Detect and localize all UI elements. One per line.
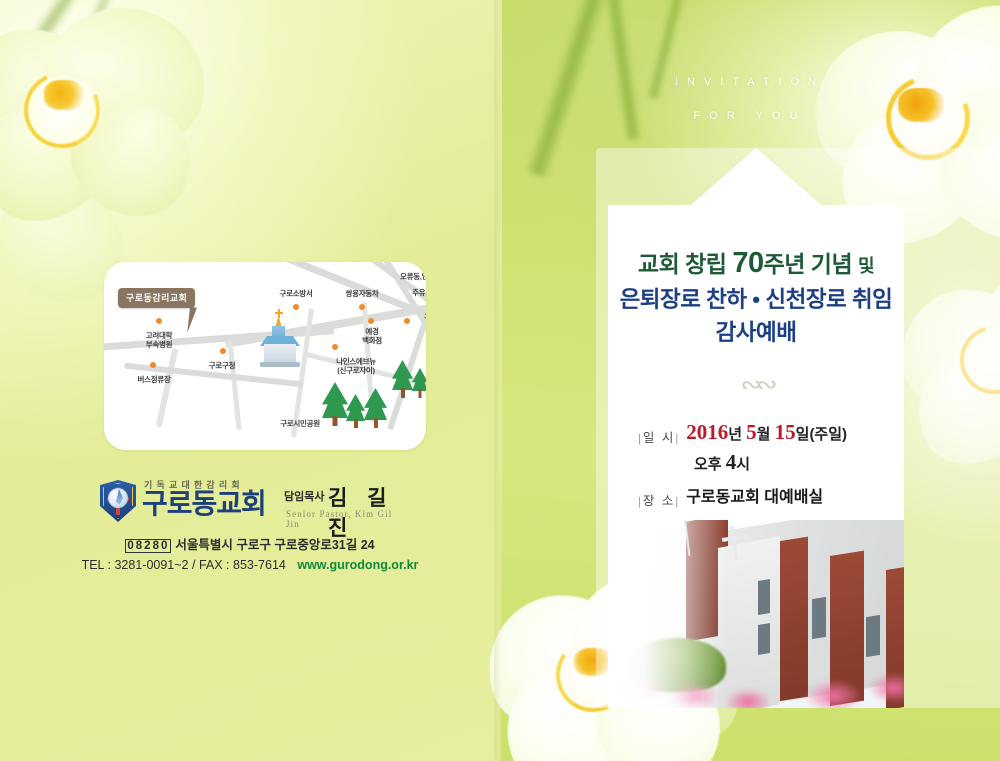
map-road (227, 340, 241, 430)
date-year-suffix: 년 (728, 426, 746, 443)
date-month: 5 (746, 420, 757, 444)
map-label: 예경 백화점 (362, 328, 382, 346)
title-l1-a: 교회 창립 (638, 251, 732, 277)
date-label: |일 시| (638, 420, 680, 446)
photo-window (758, 579, 770, 615)
right-panel-front-cover: INVITATION FOR YOU 교회 창립 70주년 기념 및 은퇴장로 … (500, 0, 1000, 761)
map-label: 구로시민공원 (280, 420, 320, 429)
map-label: 구로역 (424, 314, 426, 323)
map-poi-dot (293, 304, 299, 310)
eyebrow-for-you: FOR YOU (500, 110, 1000, 122)
decorative-flourish: ∾∾ (608, 372, 904, 398)
map-poi-dot (332, 344, 338, 350)
street-address: 서울특별시 구로구 구로중앙로31길 24 (175, 538, 374, 552)
title-l1-c: 주년 기념 (764, 251, 858, 277)
date-row: |일 시| 2016년 5월 15일(주일) (638, 420, 904, 446)
pastor-title-label: 담임목사 (284, 488, 324, 504)
map-label: 나인스에브뉴 (신구로자이) (336, 358, 376, 376)
photo-window (866, 615, 880, 657)
postal-code: 08280 (125, 539, 171, 553)
map-poi-dot (220, 348, 226, 354)
map-poi-dot (156, 318, 162, 324)
phone-line: TEL : 3281-0091~2 / FAX : 853-7614 www.g… (0, 558, 500, 572)
title-anniversary-number: 70 (732, 247, 763, 279)
eyebrow-invitation: INVITATION (500, 76, 1000, 88)
title-line-3: 감사예배 (608, 317, 904, 349)
map-tree-icon (392, 360, 413, 398)
time-row: 오후 4시 (638, 450, 904, 475)
photo-left-fade (608, 520, 728, 708)
date-day: 15 (775, 420, 796, 444)
time-prefix: 오후 (694, 456, 726, 473)
place-label: |장 소| (638, 483, 680, 509)
title-l1-d: 및 (858, 256, 874, 276)
location-map-card: 구로동감리교회 (104, 262, 426, 450)
place-key-text: 장 소 (643, 494, 675, 508)
map-tree-icon (322, 382, 348, 426)
place-value: 구로동교회 대예배실 (680, 483, 904, 507)
map-tree-icon (346, 394, 365, 428)
place-row: |장 소| 구로동교회 대예배실 (638, 483, 904, 509)
time-number: 4 (726, 450, 737, 474)
photo-window (758, 623, 770, 655)
map-tree-icon (412, 368, 426, 398)
tel-label: TEL : (82, 558, 111, 572)
address-line: 08280서울특별시 구로구 구로중앙로31길 24 (0, 534, 500, 553)
church-shield-logo-icon (100, 480, 136, 522)
brochure-page: 구로동감리교회 (0, 0, 1000, 761)
map-canvas: 구로동감리교회 (104, 262, 426, 450)
map-church-icon (256, 322, 300, 368)
map-label: 쌍용자동차 (346, 290, 379, 299)
map-poi-dot (368, 318, 374, 324)
map-road (156, 348, 179, 427)
date-day-suffix: 일(주일) (796, 426, 847, 443)
title-line-2: 은퇴장로 찬하 • 신천장로 취임 (608, 283, 904, 317)
line-separator: / (192, 558, 195, 572)
pastor-name-english: Senior Pastor, Kim Gil Jin (286, 509, 400, 529)
website-link[interactable]: www.gurodong.or.kr (297, 558, 418, 572)
map-label: 주유소 (412, 289, 426, 298)
map-label: 고려대학 부속병원 (146, 332, 172, 350)
date-key-text: 일 시 (643, 431, 675, 445)
map-poi-dot (404, 318, 410, 324)
date-year: 2016 (686, 420, 728, 444)
invitation-title: 교회 창립 70주년 기념 및 은퇴장로 찬하 • 신천장로 취임 감사예배 (608, 244, 904, 348)
fax-label: FAX : (199, 558, 230, 572)
left-panel-back-cover: 구로동감리교회 (0, 0, 500, 761)
map-label: 구로구청 (209, 362, 235, 371)
map-poi-dot (359, 304, 365, 310)
date-value: 2016년 5월 15일(주일) (680, 420, 904, 445)
map-poi-dot (150, 362, 156, 368)
map-label: 오류동,인천방면 (400, 273, 426, 282)
time-suffix: 시 (736, 456, 750, 473)
date-month-suffix: 월 (757, 426, 775, 443)
church-name: 구로동교회 (142, 490, 266, 518)
photo-window (812, 597, 826, 639)
church-building-photo (608, 520, 904, 708)
church-branding-block: 기독교대한감리회 구로동교회 담임목사 김 길 진 Senior Pastor,… (100, 478, 400, 524)
tel-number: 3281-0091~2 (114, 558, 188, 572)
title-line-1: 교회 창립 70주년 기념 및 (608, 244, 904, 283)
map-callout-church: 구로동감리교회 (118, 288, 195, 308)
fax-number: 853-7614 (233, 558, 286, 572)
map-label: 버스정류장 (138, 376, 171, 385)
map-tree-icon (364, 388, 387, 428)
map-callout-tail (187, 307, 197, 334)
map-label: 구로소방서 (280, 290, 313, 299)
event-details: |일 시| 2016년 5월 15일(주일) 오후 4시 |장 소| 구로동교회… (638, 420, 904, 513)
